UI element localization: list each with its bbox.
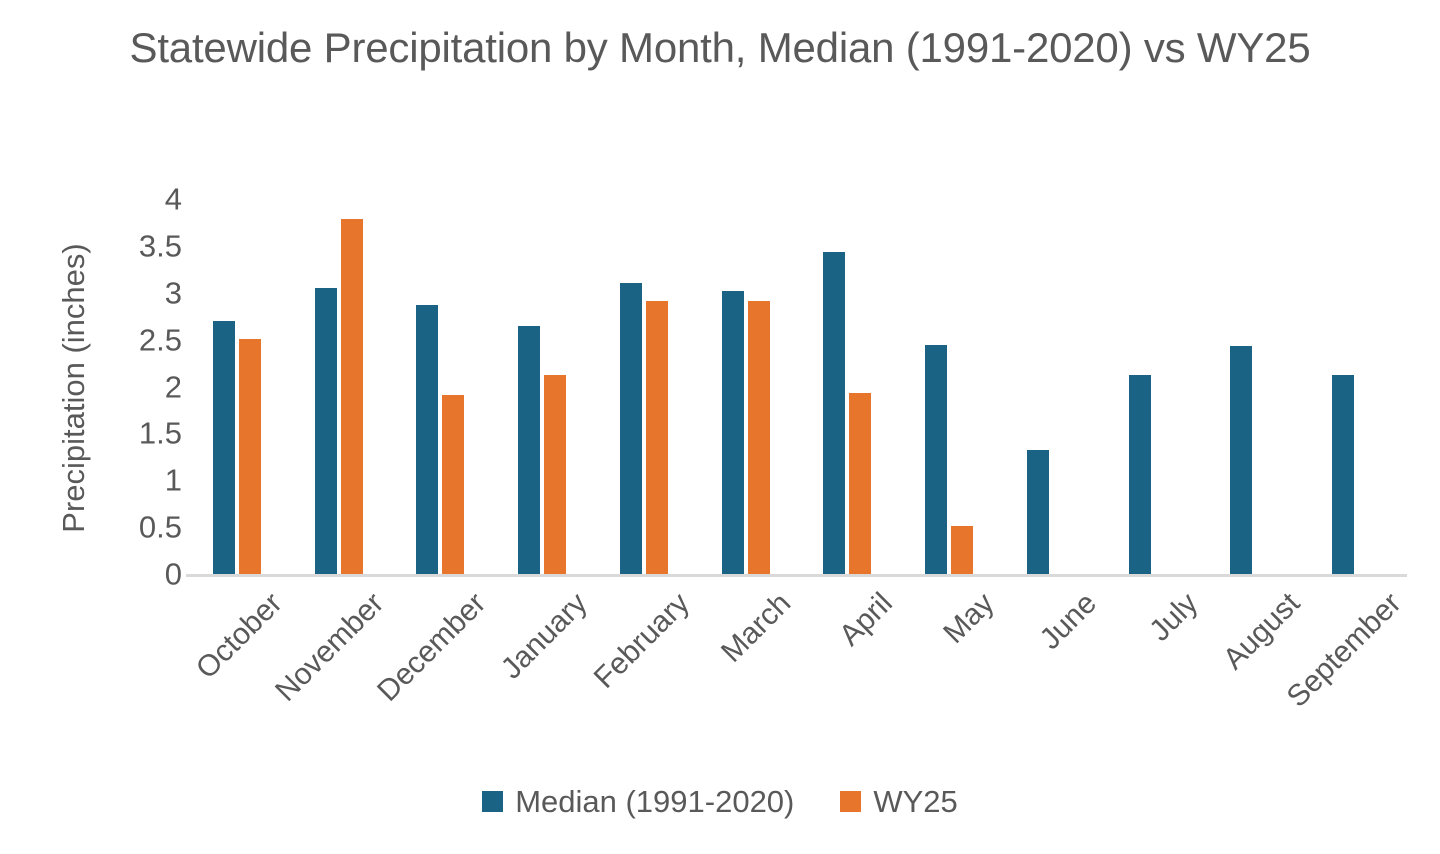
legend-item-median[interactable]: Median (1991-2020) bbox=[482, 786, 794, 817]
y-axis-tick-label: 3.5 bbox=[62, 230, 182, 261]
x-axis-tick-label-march: March bbox=[717, 588, 797, 668]
bar-july-median bbox=[1129, 375, 1151, 574]
bar-april-wy25 bbox=[849, 393, 871, 574]
bar-may-median bbox=[925, 345, 947, 574]
legend-swatch-median-icon bbox=[482, 791, 503, 812]
plot-area bbox=[186, 199, 1407, 574]
bar-august-median bbox=[1230, 346, 1252, 574]
bar-february-wy25 bbox=[646, 301, 668, 574]
x-axis-tick-label-february: February bbox=[589, 588, 695, 694]
bar-december-wy25 bbox=[442, 395, 464, 574]
x-axis-tick-label-june: June bbox=[1035, 588, 1102, 655]
chart-legend: Median (1991-2020)WY25 bbox=[0, 786, 1440, 817]
legend-label: Median (1991-2020) bbox=[515, 786, 794, 817]
x-axis-tick-label-august: August bbox=[1218, 588, 1305, 675]
bar-october-wy25 bbox=[239, 339, 261, 574]
bar-september-median bbox=[1332, 375, 1354, 574]
legend-swatch-wy25-icon bbox=[840, 791, 861, 812]
bar-april-median bbox=[823, 252, 845, 574]
x-axis-tick-label-july: July bbox=[1145, 588, 1204, 647]
bar-january-median bbox=[518, 326, 540, 574]
bar-december-median bbox=[416, 305, 438, 574]
x-axis-tick-label-november: November bbox=[271, 588, 390, 707]
chart-title: Statewide Precipitation by Month, Median… bbox=[120, 22, 1320, 74]
x-axis-tick-label-may: May bbox=[939, 588, 1000, 649]
y-axis-tick-label: 1.5 bbox=[62, 418, 182, 449]
bar-march-median bbox=[722, 291, 744, 574]
y-axis-tick-label: 1 bbox=[62, 465, 182, 496]
y-axis-tick-label: 4 bbox=[62, 184, 182, 215]
x-axis-tick-label-january: January bbox=[497, 588, 594, 685]
x-axis-tick-label-april: April bbox=[835, 588, 899, 652]
y-axis-tick-label: 3 bbox=[62, 277, 182, 308]
y-axis-tick-label: 2 bbox=[62, 371, 182, 402]
legend-item-wy25[interactable]: WY25 bbox=[840, 786, 957, 817]
bar-june-median bbox=[1027, 450, 1049, 574]
precipitation-bar-chart: Statewide Precipitation by Month, Median… bbox=[0, 0, 1440, 854]
y-axis-tick-label: 0.5 bbox=[62, 512, 182, 543]
bar-november-wy25 bbox=[341, 219, 363, 574]
x-axis-tick-label-december: December bbox=[373, 588, 492, 707]
x-axis-tick-label-october: October bbox=[191, 588, 288, 685]
x-axis-line bbox=[186, 574, 1407, 577]
bar-january-wy25 bbox=[544, 375, 566, 574]
y-axis-tick-label: 2.5 bbox=[62, 324, 182, 355]
bar-february-median bbox=[620, 283, 642, 574]
legend-label: WY25 bbox=[873, 786, 957, 817]
bar-may-wy25 bbox=[951, 526, 973, 574]
bar-october-median bbox=[213, 321, 235, 574]
bar-november-median bbox=[315, 288, 337, 574]
y-axis-tick-label: 0 bbox=[62, 559, 182, 590]
bar-march-wy25 bbox=[748, 301, 770, 574]
